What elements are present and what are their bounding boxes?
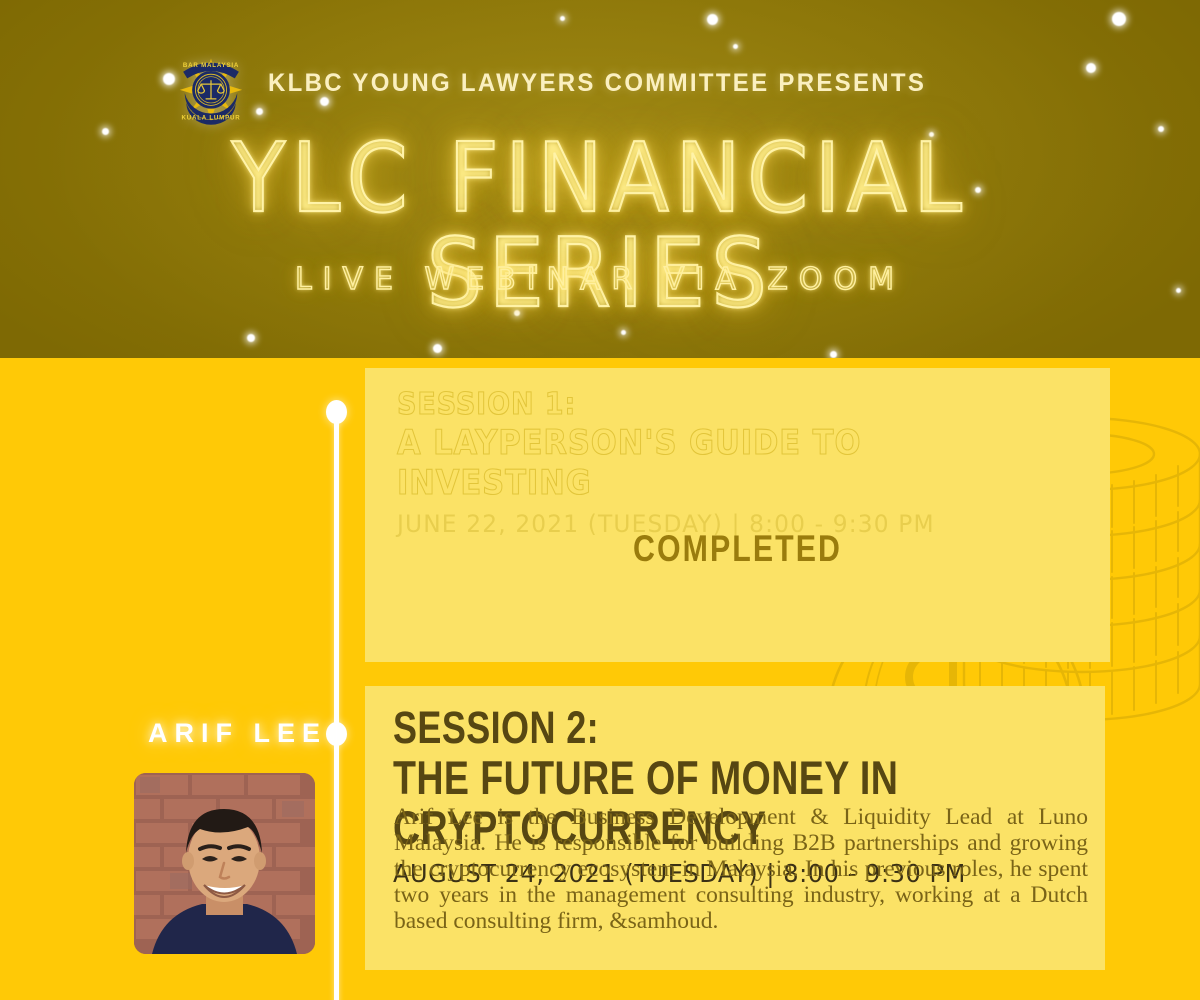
sparkle-icon bbox=[560, 16, 565, 21]
sparkle-icon bbox=[320, 97, 329, 106]
session-1-kicker: SESSION 1: bbox=[397, 388, 1018, 422]
svg-text:KUALA LUMPUR: KUALA LUMPUR bbox=[181, 114, 240, 121]
speaker-name: ARIF LEE bbox=[148, 718, 327, 749]
session-2-card[interactable]: SESSION 2: THE FUTURE OF MONEY IN CRYPTO… bbox=[365, 686, 1105, 970]
speaker-avatar bbox=[134, 773, 315, 954]
sparkle-icon bbox=[1112, 12, 1126, 26]
poster-canvas: KUALA LUMPUR BAR MALAYSIA bbox=[0, 0, 1200, 1000]
sparkle-icon bbox=[256, 108, 263, 115]
sparkle-icon bbox=[621, 330, 626, 335]
session-2-kicker: SESSION 2: bbox=[393, 704, 953, 751]
sparkle-icon bbox=[733, 44, 738, 49]
timeline-dot-session-1 bbox=[326, 400, 347, 424]
presents-line: KLBC YOUNG LAWYERS COMMITTEE PRESENTS bbox=[268, 69, 926, 98]
poster-subtitle: LIVE WEBINAR VIA ZOOM bbox=[0, 262, 1200, 297]
bar-malaysia-kl-emblem-icon: KUALA LUMPUR BAR MALAYSIA bbox=[170, 47, 252, 131]
session-1-status-badge: COMPLETED bbox=[432, 528, 1043, 570]
session-1-content: SESSION 1: A LAYPERSON'S GUIDE TO INVEST… bbox=[397, 388, 1087, 538]
sparkle-icon bbox=[247, 334, 255, 342]
sparkle-icon bbox=[830, 351, 837, 358]
timeline-track bbox=[334, 406, 339, 1000]
session-1-title: A LAYPERSON'S GUIDE TO INVESTING bbox=[397, 423, 1018, 503]
poster-header: KUALA LUMPUR BAR MALAYSIA bbox=[0, 0, 1200, 358]
timeline-dot-session-2 bbox=[326, 722, 347, 746]
speaker-bio: Arif Lee is the Business Development & L… bbox=[394, 804, 1088, 934]
sparkle-icon bbox=[433, 344, 442, 353]
svg-text:BAR MALAYSIA: BAR MALAYSIA bbox=[183, 62, 239, 69]
sparkle-icon bbox=[1086, 63, 1096, 73]
sparkle-icon bbox=[707, 14, 718, 25]
session-1-card[interactable]: SESSION 1: A LAYPERSON'S GUIDE TO INVEST… bbox=[365, 368, 1110, 662]
